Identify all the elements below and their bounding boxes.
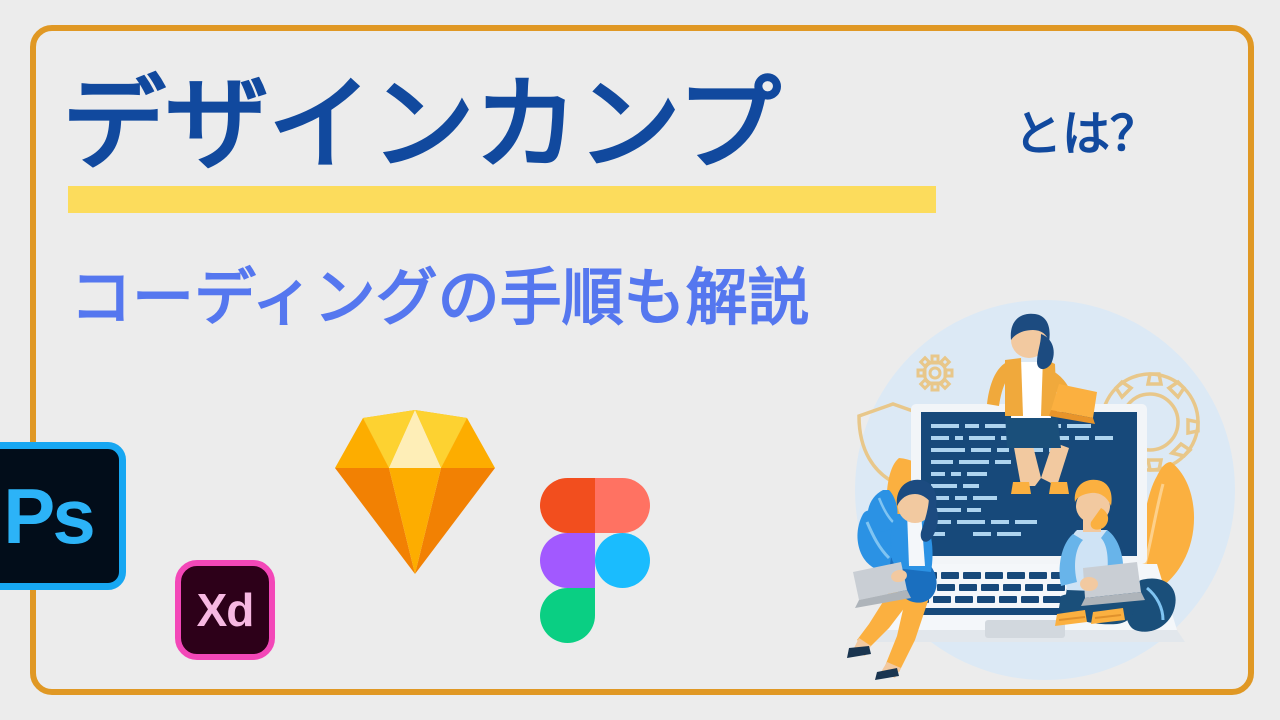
- slide-canvas: デザインカンプ とは？ コーディングの手順も解説 Ps Xd: [0, 0, 1280, 720]
- headline-main-text: デザインカンプ: [62, 62, 780, 190]
- photoshop-icon: Ps: [0, 442, 126, 590]
- photoshop-icon-label: Ps: [3, 471, 92, 562]
- adobe-xd-icon: Xd: [175, 560, 275, 660]
- coding-team-illustration: [845, 300, 1245, 690]
- headline-block: デザインカンプ とは？: [62, 62, 1162, 212]
- adobe-xd-icon-label: Xd: [197, 583, 254, 637]
- figma-icon: [540, 478, 650, 643]
- subheadline-text: コーディングの手順も解説: [70, 258, 810, 338]
- headline-highlight-bar: [68, 186, 936, 213]
- headline-suffix-text: とは？: [1014, 106, 1158, 162]
- laptop-trackpad: [985, 620, 1065, 638]
- sketch-icon: [315, 392, 515, 592]
